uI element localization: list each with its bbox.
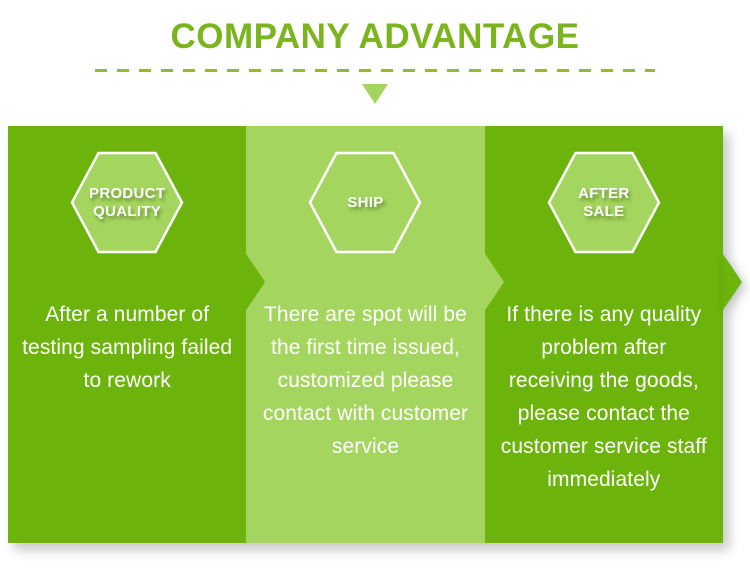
- advantage-column-product-quality[interactable]: PRODUCT QUALITY After a number of testin…: [8, 126, 246, 543]
- chevron-right-icon: [485, 254, 504, 310]
- hexagon-badge-ship: SHIP: [308, 151, 422, 254]
- hexagon-badge-label: PRODUCT QUALITY: [70, 151, 184, 254]
- dashed-divider: [95, 69, 655, 72]
- infographic-page: COMPANY ADVANTAGE PRODUCT QUALITY After …: [0, 0, 750, 570]
- advantage-column-after-sale[interactable]: AFTER SALE If there is any quality probl…: [485, 126, 723, 543]
- advantage-columns: PRODUCT QUALITY After a number of testin…: [8, 126, 723, 543]
- header: COMPANY ADVANTAGE: [0, 0, 750, 126]
- advantage-body-text: There are spot will be the first time is…: [258, 298, 472, 463]
- advantage-panel: PRODUCT QUALITY After a number of testin…: [8, 126, 723, 543]
- caret-down-icon: [362, 84, 388, 104]
- advantage-column-ship[interactable]: SHIP There are spot will be the first ti…: [246, 126, 484, 543]
- chevron-right-icon: [723, 254, 742, 310]
- hexagon-badge-label: SHIP: [308, 151, 422, 254]
- hexagon-badge-label: AFTER SALE: [547, 151, 661, 254]
- advantage-body-text: If there is any quality problem after re…: [497, 298, 711, 496]
- page-title: COMPANY ADVANTAGE: [0, 16, 750, 58]
- advantage-body-text: After a number of testing sampling faile…: [20, 298, 234, 397]
- hexagon-badge-after-sale: AFTER SALE: [547, 151, 661, 254]
- hexagon-badge-product-quality: PRODUCT QUALITY: [70, 151, 184, 254]
- chevron-right-icon: [246, 254, 265, 310]
